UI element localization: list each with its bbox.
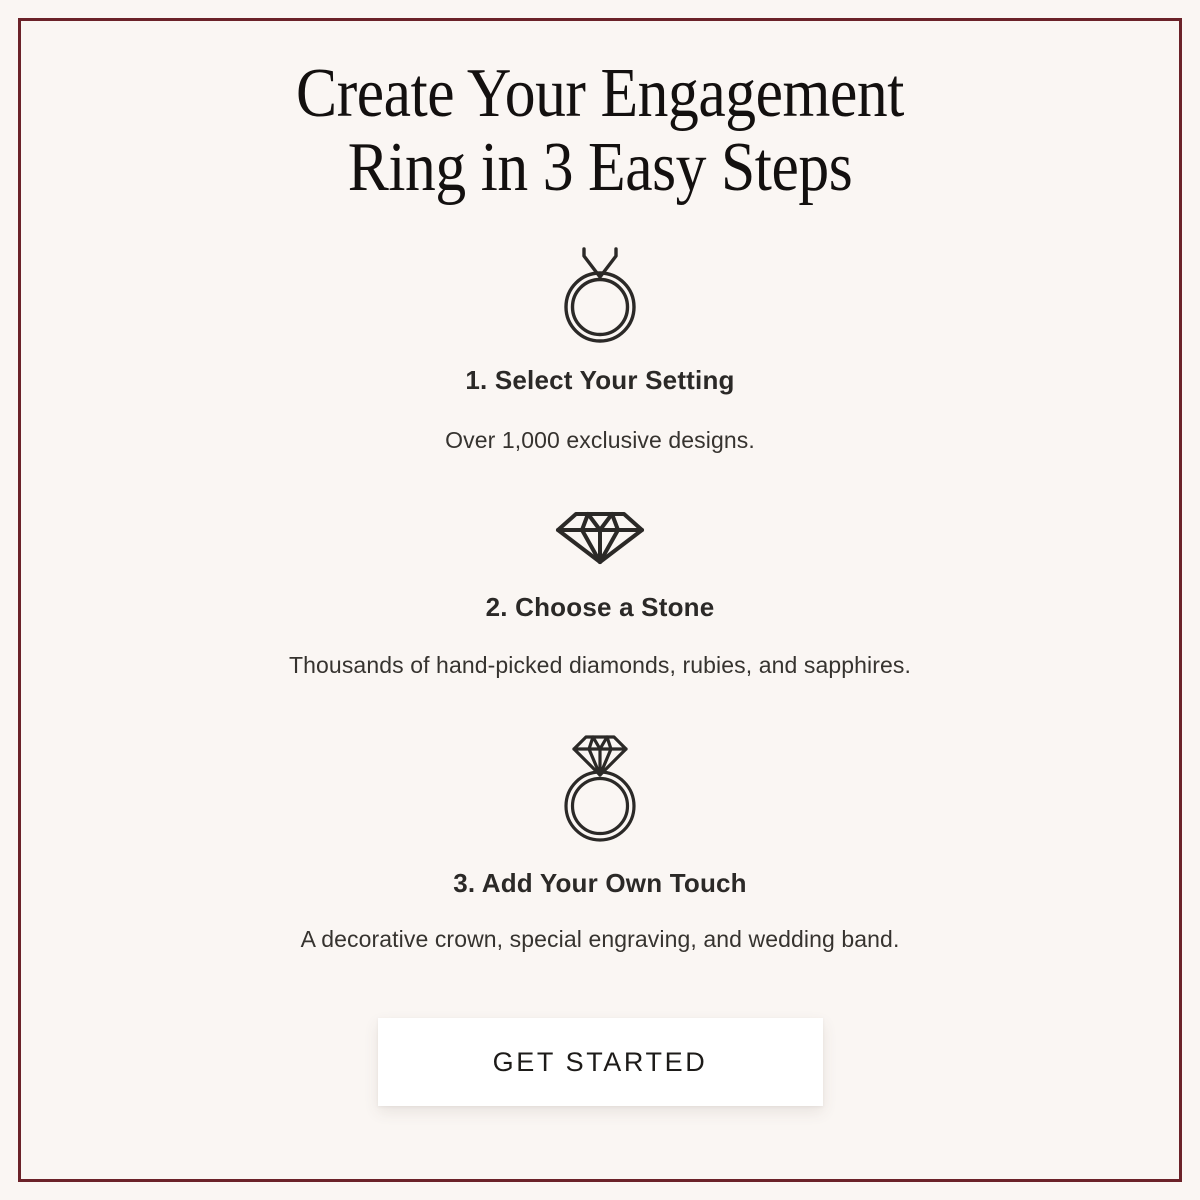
page-title-line-1: Create Your Engagement	[90, 57, 1109, 131]
step-item-2: 2. Choose a Stone Thousands of hand-pick…	[21, 458, 1179, 682]
diamond-gem-icon	[554, 506, 646, 566]
step-item-1: 1. Select Your Setting Over 1,000 exclus…	[21, 205, 1179, 457]
get-started-button[interactable]: GET STARTED	[378, 1018, 823, 1106]
step-title-2: 2. Choose a Stone	[486, 592, 715, 623]
ring-prong-setting-icon	[550, 239, 650, 347]
cta-container: GET STARTED	[21, 1018, 1179, 1106]
step-title-3: 3. Add Your Own Touch	[453, 868, 747, 899]
step-item-3: 3. Add Your Own Touch A decorative crown…	[21, 682, 1179, 956]
page-title: Create Your Engagement Ring in 3 Easy St…	[90, 57, 1109, 205]
steps-list: 1. Select Your Setting Over 1,000 exclus…	[21, 205, 1179, 956]
page-title-line-2: Ring in 3 Easy Steps	[90, 131, 1109, 205]
promo-content: Create Your Engagement Ring in 3 Easy St…	[21, 21, 1179, 1179]
step-description-3: A decorative crown, special engraving, a…	[301, 923, 900, 956]
step-title-1: 1. Select Your Setting	[465, 365, 734, 396]
promo-card: Create Your Engagement Ring in 3 Easy St…	[18, 18, 1182, 1182]
diamond-ring-icon	[548, 732, 652, 842]
step-description-1: Over 1,000 exclusive designs.	[445, 424, 755, 457]
step-description-2: Thousands of hand-picked diamonds, rubie…	[289, 649, 911, 682]
